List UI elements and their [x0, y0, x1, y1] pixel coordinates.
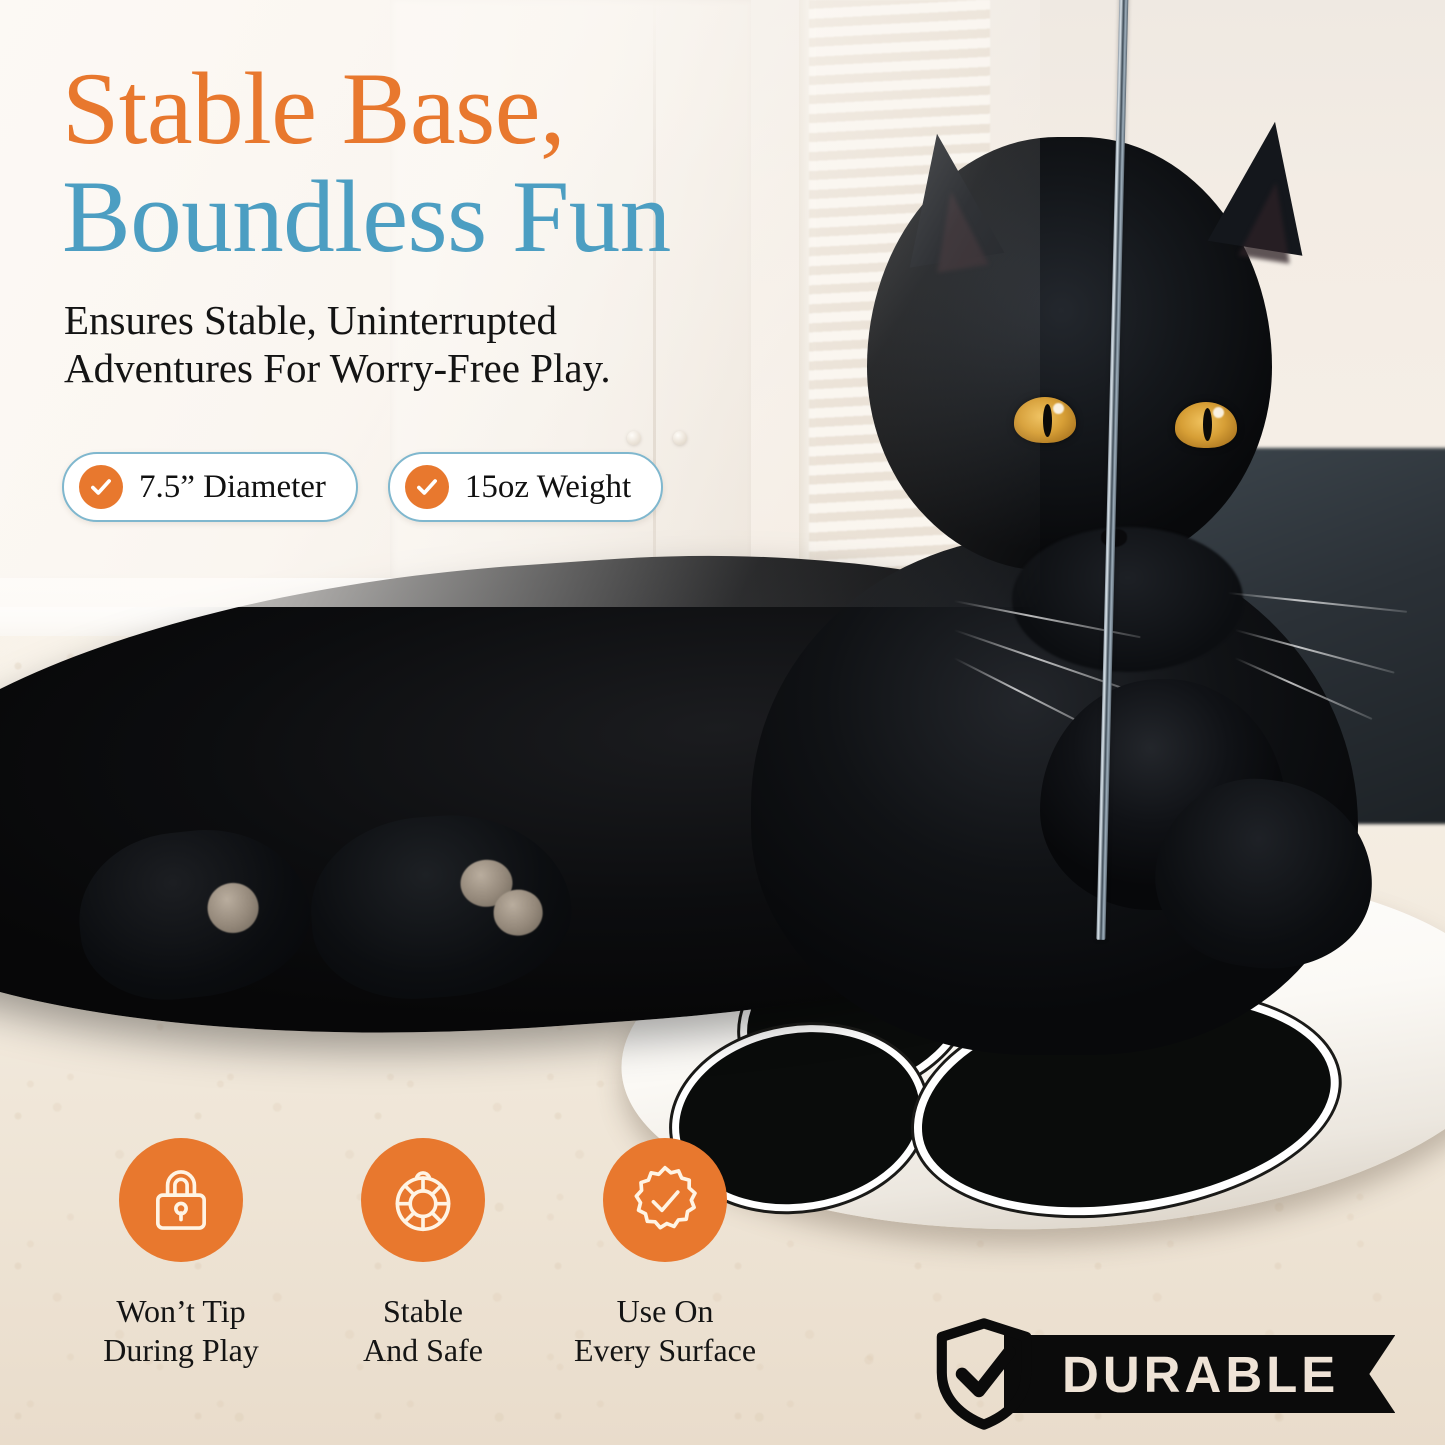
check-icon: [79, 465, 123, 509]
headline-line-1: Stable Base,: [62, 60, 942, 160]
badge-check-icon: [603, 1138, 727, 1262]
shield-check-icon: [930, 1318, 1038, 1430]
subheadline-line-1: Ensures Stable, Uninterrupted: [64, 297, 824, 345]
feature-label: Won’t Tip During Play: [103, 1292, 259, 1370]
marketing-overlay: Stable Base, Boundless Fun Ensures Stabl…: [0, 0, 1445, 1445]
durable-badge: DURABLE: [930, 1318, 1395, 1430]
lifebuoy-icon: [361, 1138, 485, 1262]
feature-list: Won’t Tip During Play: [60, 1138, 786, 1370]
durable-label: DURABLE: [1062, 1349, 1339, 1400]
feature-stable-and-safe: Stable And Safe: [302, 1138, 544, 1370]
spec-pill-diameter[interactable]: 7.5” Diameter: [62, 452, 358, 522]
check-icon: [405, 465, 449, 509]
feature-every-surface: Use On Every Surface: [544, 1138, 786, 1370]
feature-label-line-1: Stable: [363, 1292, 483, 1331]
feature-wont-tip: Won’t Tip During Play: [60, 1138, 302, 1370]
spec-pill-group: 7.5” Diameter 15oz Weight: [62, 452, 663, 522]
product-feature-card: Stable Base, Boundless Fun Ensures Stabl…: [0, 0, 1445, 1445]
feature-label-line-1: Won’t Tip: [103, 1292, 259, 1331]
feature-label-line-2: During Play: [103, 1331, 259, 1370]
spec-pill-label: 7.5” Diameter: [139, 469, 326, 506]
spec-pill-weight[interactable]: 15oz Weight: [388, 452, 663, 522]
headline-line-2: Boundless Fun: [62, 168, 942, 268]
padlock-icon: [119, 1138, 243, 1262]
subheadline-line-2: Adventures For Worry-Free Play.: [64, 345, 824, 393]
feature-label-line-1: Use On: [574, 1292, 756, 1331]
page-title: Stable Base, Boundless Fun: [62, 60, 942, 268]
feature-label-line-2: Every Surface: [574, 1331, 756, 1370]
feature-label: Use On Every Surface: [574, 1292, 756, 1370]
durable-banner: DURABLE: [1004, 1335, 1395, 1413]
feature-label: Stable And Safe: [363, 1292, 483, 1370]
spec-pill-label: 15oz Weight: [465, 469, 631, 506]
feature-label-line-2: And Safe: [363, 1331, 483, 1370]
subheadline: Ensures Stable, Uninterrupted Adventures…: [64, 297, 824, 392]
